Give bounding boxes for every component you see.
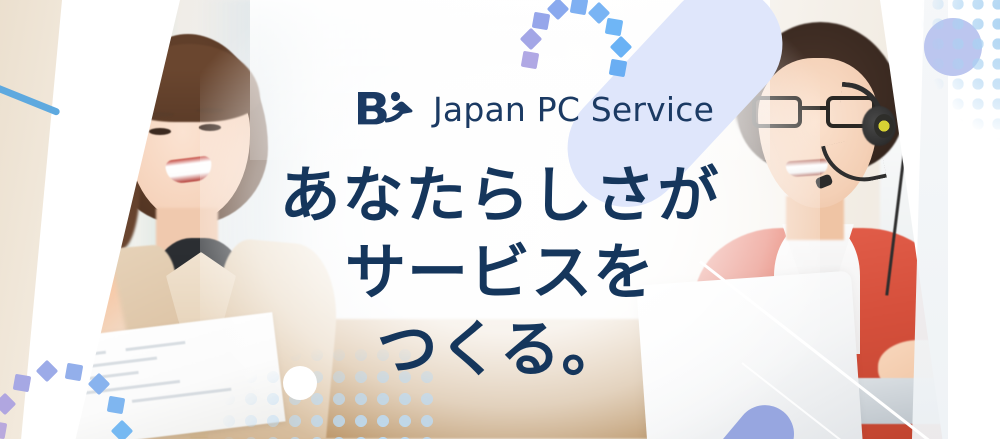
headline-line-1: あなたらしさが <box>0 158 1000 235</box>
brand-lockup: Japan PC Service <box>355 85 714 133</box>
headline-line-3: つくる。 <box>0 312 1000 389</box>
japan-pc-service-logo-icon <box>355 88 419 130</box>
headline-line-2: サービスを <box>0 235 1000 312</box>
brand-name: Japan PC Service <box>433 90 714 129</box>
woman-eye-left <box>149 128 171 135</box>
white-top-veil <box>250 0 770 160</box>
hero-banner: Japan PC Service あなたらしさが サービスを つくる。 <box>0 0 1000 439</box>
hero-headline: あなたらしさが サービスを つくる。 <box>0 158 1000 389</box>
